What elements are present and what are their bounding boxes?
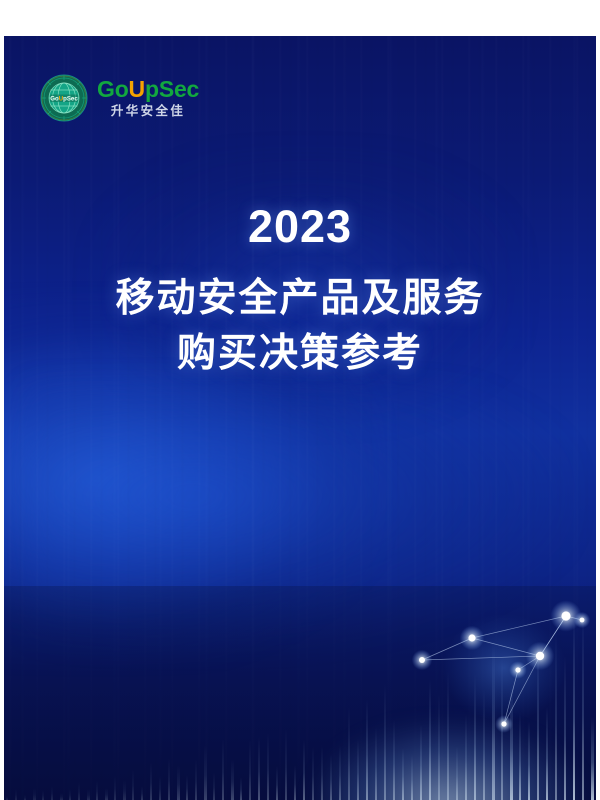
light-bar	[294, 765, 296, 800]
light-bar	[213, 772, 215, 800]
light-bar	[285, 729, 287, 800]
network-constellation-graphic	[400, 572, 590, 742]
light-bar	[186, 775, 188, 800]
light-bar	[168, 758, 170, 800]
light-bar	[24, 795, 26, 800]
light-bar	[60, 793, 63, 800]
light-bar	[330, 754, 332, 800]
svg-text:GoUpSec: GoUpSec	[50, 95, 78, 102]
network-node	[412, 650, 432, 670]
logo-wordmark: GoUpSec	[97, 78, 199, 101]
light-bar	[456, 746, 458, 800]
light-bar	[96, 781, 98, 800]
logo-wordmark-part2: pSec	[145, 76, 199, 102]
cover-title-line1: 移动安全产品及服务	[4, 271, 596, 326]
logo-tagline: 升华安全佳	[111, 105, 186, 118]
light-bar	[267, 733, 269, 800]
light-bar	[159, 776, 161, 800]
light-bar	[123, 780, 126, 800]
light-bar	[321, 745, 323, 800]
light-bar	[276, 766, 278, 800]
light-bar	[222, 739, 224, 800]
light-bar	[249, 740, 251, 800]
light-bar	[6, 796, 8, 800]
light-bar	[33, 788, 36, 800]
light-bar	[177, 765, 180, 800]
light-bar	[384, 683, 386, 800]
light-bar	[132, 769, 134, 800]
light-bar	[312, 747, 314, 800]
light-bar	[195, 759, 197, 800]
brand-logo: GoUpSec GoUpSec 升华安全佳	[40, 74, 199, 122]
cover-title-line2: 购买决策参考	[4, 326, 596, 381]
light-bar	[411, 754, 413, 800]
light-bar	[87, 789, 90, 800]
network-node	[509, 661, 527, 679]
light-bar	[51, 786, 53, 800]
light-bar	[141, 786, 143, 800]
cover-title-year: 2023	[4, 204, 596, 249]
light-bar	[357, 739, 359, 800]
light-bar	[15, 789, 17, 800]
network-node	[460, 626, 484, 650]
light-bar	[339, 745, 341, 800]
report-cover-page: GoUpSec GoUpSec 升华安全佳 2023 移动安全产品及服务 购买决…	[0, 0, 600, 800]
light-bar	[303, 740, 305, 800]
light-bar	[69, 789, 71, 800]
light-bar	[231, 759, 234, 800]
goupsec-globe-emblem-icon: GoUpSec	[40, 74, 88, 122]
network-node	[495, 715, 513, 733]
logo-wordmark-group: GoUpSec 升华安全佳	[97, 78, 199, 118]
cover-canvas: GoUpSec GoUpSec 升华安全佳 2023 移动安全产品及服务 购买决…	[4, 36, 596, 800]
light-bar	[591, 717, 594, 800]
light-bar	[42, 790, 44, 800]
logo-wordmark-part1: Go	[97, 76, 129, 102]
light-bar	[348, 707, 350, 800]
light-bar	[114, 776, 116, 800]
cover-title-block: 2023 移动安全产品及服务 购买决策参考	[4, 204, 596, 382]
light-bar	[105, 788, 108, 800]
light-bar	[258, 737, 260, 800]
network-node	[526, 642, 555, 671]
light-bar	[393, 719, 395, 800]
light-bar	[240, 777, 242, 800]
network-node	[574, 612, 590, 628]
light-bar	[402, 748, 404, 800]
light-bar	[366, 699, 368, 800]
light-bar	[204, 745, 207, 800]
light-bar	[78, 782, 80, 800]
logo-wordmark-highlight: U	[129, 76, 145, 102]
light-bar	[150, 762, 152, 800]
light-bar	[375, 727, 377, 800]
